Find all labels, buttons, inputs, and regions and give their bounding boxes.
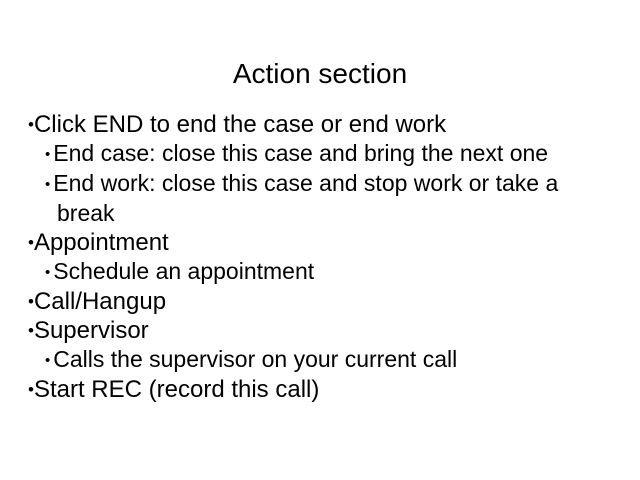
bullet-dot-icon: • (45, 176, 50, 193)
bullet-dot-icon: • (45, 264, 50, 281)
list-item-label: Calls the supervisor on your current cal… (53, 346, 457, 372)
list-item: •Schedule an appointment (28, 257, 616, 287)
list-item: •End work: close this case and stop work… (28, 169, 616, 228)
list-item: •Appointment (28, 228, 616, 257)
list-item: •End case: close this case and bring the… (28, 139, 616, 169)
list-item-label: End work: close this case and stop work … (53, 170, 558, 226)
page-title: Action section (0, 57, 640, 91)
list-item: •Click END to end the case or end work (28, 110, 616, 139)
list-item: •Start REC (record this call) (28, 375, 616, 404)
list-item-label: End case: close this case and bring the … (53, 140, 548, 166)
bullet-dot-icon: • (45, 352, 50, 369)
list-item-label: Click END to end the case or end work (34, 111, 446, 138)
list-item-label: Supervisor (34, 317, 149, 344)
list-item-label: Appointment (34, 229, 169, 256)
list-item: •Supervisor (28, 316, 616, 345)
list-item-label: Start REC (record this call) (34, 376, 319, 403)
bullet-list: •Click END to end the case or end work •… (28, 110, 616, 404)
slide: Action section •Click END to end the cas… (0, 0, 640, 480)
list-item: •Calls the supervisor on your current ca… (28, 345, 616, 375)
bullet-dot-icon: • (45, 146, 50, 163)
list-item-label: Call/Hangup (34, 288, 166, 315)
list-item-label: Schedule an appointment (53, 258, 314, 284)
list-item: •Call/Hangup (28, 287, 616, 316)
